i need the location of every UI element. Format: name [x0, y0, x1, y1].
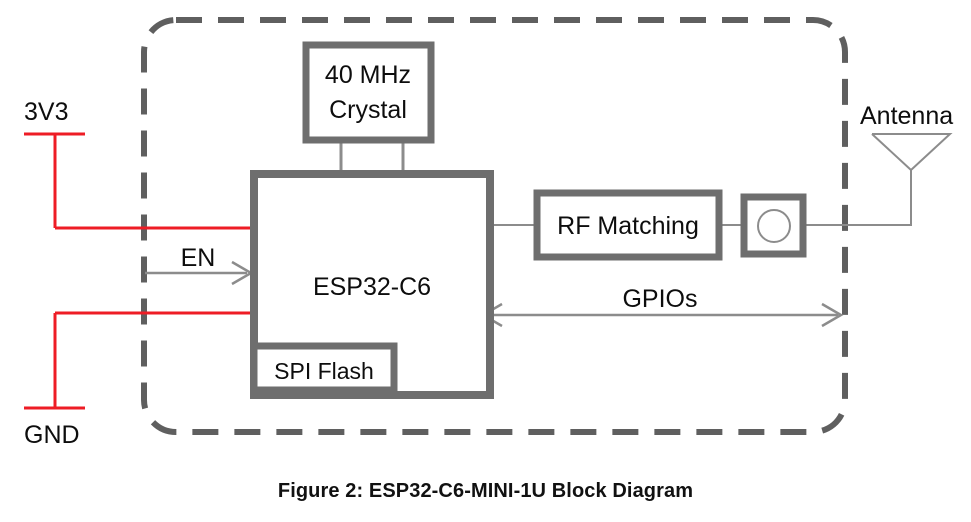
soc-label: ESP32-C6: [313, 273, 431, 301]
gpios-label: GPIOs: [622, 285, 697, 313]
antenna-label: Antenna: [860, 102, 953, 130]
crystal-label-line2: Crystal: [329, 96, 407, 124]
diagram-canvas: 40 MHz Crystal ESP32-C6 SPI Flash RF Mat…: [0, 0, 971, 522]
spi-flash-label: SPI Flash: [274, 358, 374, 384]
power-net-3v3: [24, 134, 254, 228]
block-diagram-figure: 40 MHz Crystal ESP32-C6 SPI Flash RF Mat…: [0, 0, 971, 522]
figure-caption: Figure 2: ESP32-C6-MINI-1U Block Diagram: [0, 480, 971, 503]
power-pin-label: 3V3: [24, 98, 68, 126]
rf-matching-label: RF Matching: [557, 212, 699, 240]
circle-connector-icon: [758, 210, 790, 242]
antenna-icon: [872, 134, 950, 225]
ground-net-gnd: [24, 313, 254, 408]
crystal-block[interactable]: [306, 45, 431, 140]
enable-pin-label: EN: [181, 244, 216, 272]
crystal-label-line1: 40 MHz: [325, 61, 411, 89]
ground-pin-label: GND: [24, 421, 80, 449]
